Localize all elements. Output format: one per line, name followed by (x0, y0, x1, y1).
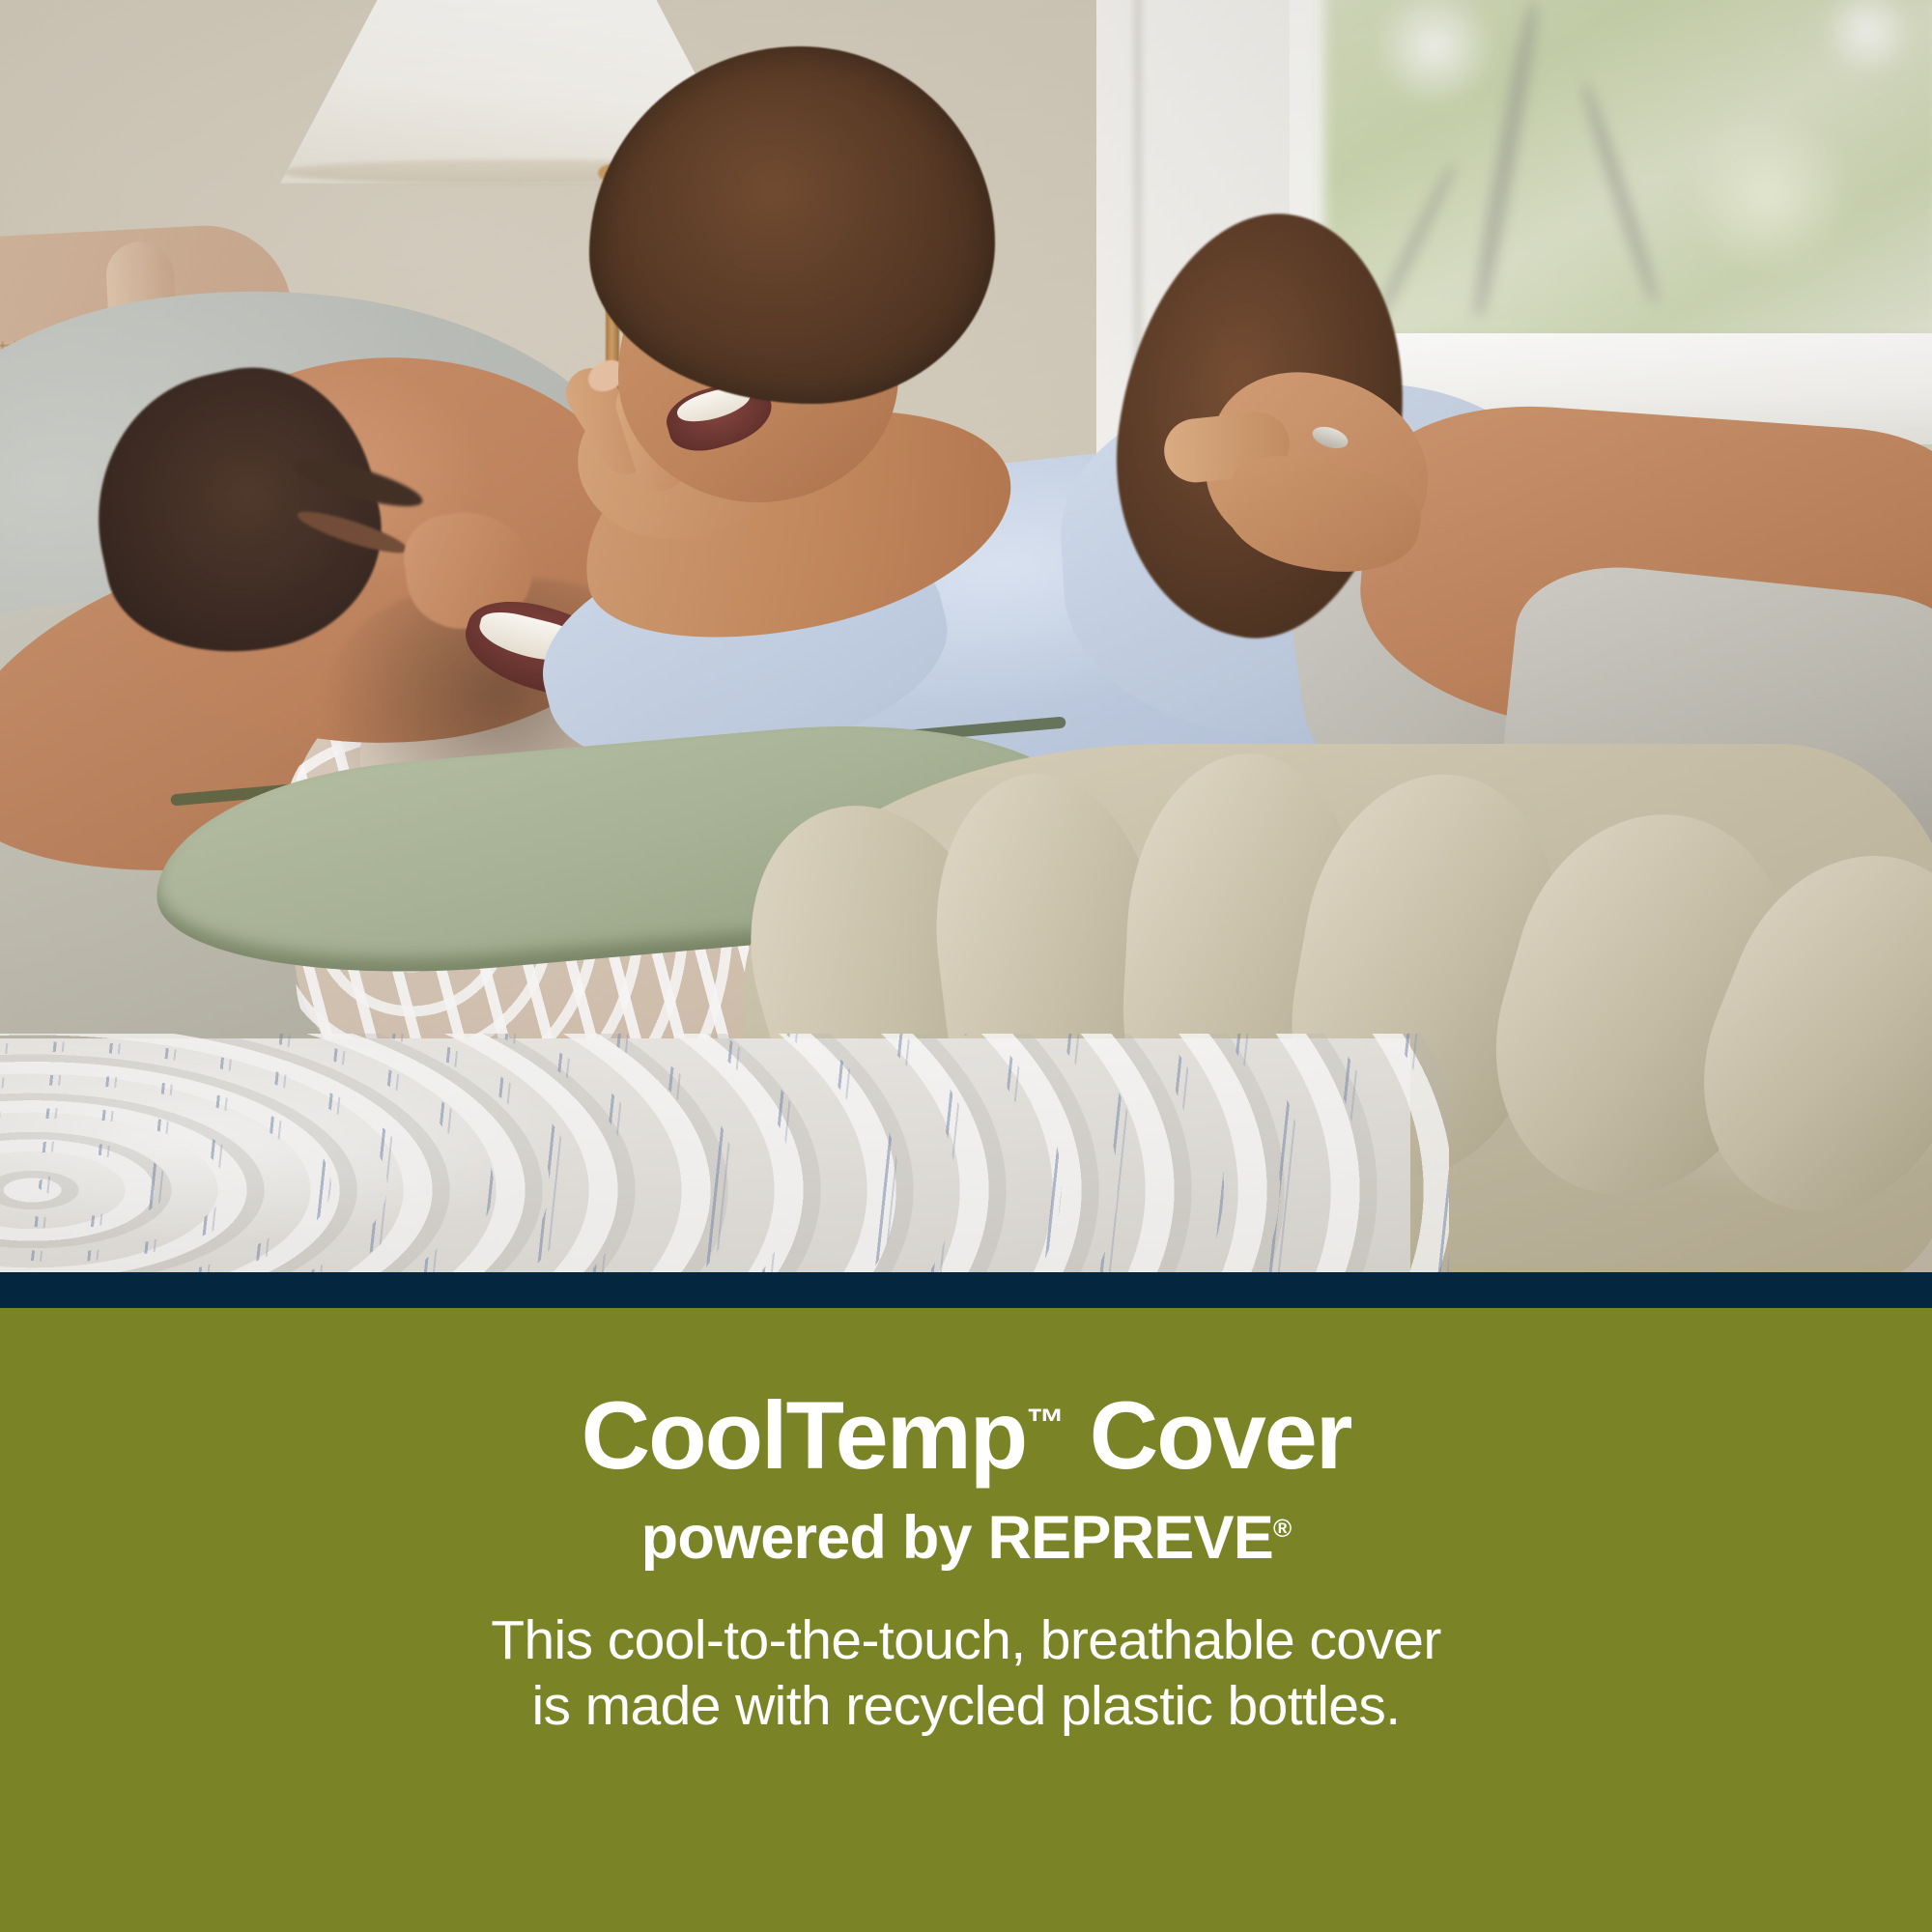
powered-by-prefix: powered by (641, 1504, 988, 1572)
window-pane-upper (1323, 0, 1932, 348)
quilt-wave-stitching (0, 1034, 1449, 1272)
copy-block: CoolTemp™ Cover powered by REPREVE® This… (0, 1308, 1932, 1932)
registered-symbol: ® (1273, 1514, 1291, 1543)
body-line-2: is made with recycled plastic bottles. (491, 1673, 1441, 1739)
product-feature-banner: CoolTemp™ Cover powered by REPREVE® This… (0, 0, 1932, 1932)
powered-by-subhead: powered by REPREVE® (641, 1508, 1292, 1569)
headline-noun: Cover (1090, 1381, 1351, 1489)
body-line-1: This cool-to-the-touch, breathable cover (491, 1607, 1441, 1673)
lifestyle-photo (0, 0, 1932, 1272)
product-headline: CoolTemp™ Cover (582, 1387, 1351, 1483)
body-copy: This cool-to-the-touch, breathable cover… (491, 1607, 1441, 1740)
product-name: CoolTemp (582, 1381, 1027, 1489)
navy-divider-band (0, 1272, 1932, 1308)
repreve-brand: REPREVE (987, 1504, 1273, 1572)
trademark-symbol: ™ (1026, 1402, 1065, 1444)
